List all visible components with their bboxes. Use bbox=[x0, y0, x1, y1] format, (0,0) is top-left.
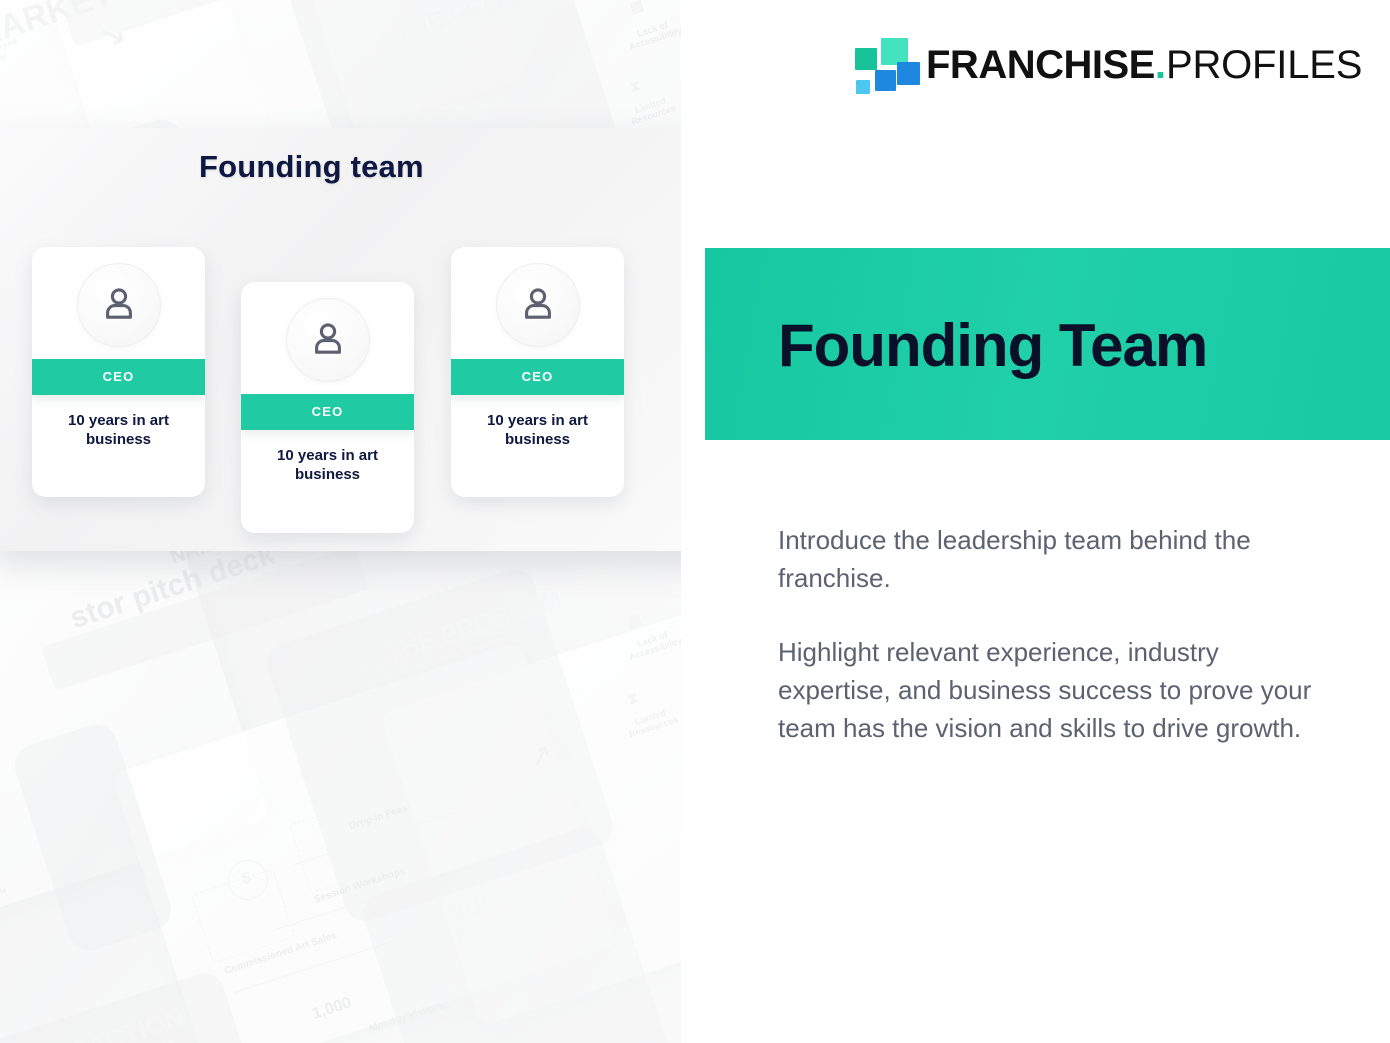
team-member-card[interactable]: CEO 10 years in art business bbox=[241, 282, 414, 533]
role-badge: CEO bbox=[32, 359, 205, 395]
role-badge: CEO bbox=[241, 394, 414, 430]
description-text: Introduce the leadership team behind the… bbox=[778, 522, 1338, 748]
description-paragraph-2: Highlight relevant experience, industry … bbox=[778, 634, 1338, 748]
description-paragraph-1: Introduce the leadership team behind the… bbox=[778, 522, 1338, 598]
logo-square-teal bbox=[855, 48, 877, 70]
logo-squares-icon bbox=[851, 36, 909, 94]
brand-logo: FRANCHISE.PROFILES bbox=[851, 36, 1362, 94]
person-icon bbox=[98, 284, 140, 326]
team-member-card[interactable]: CEO 10 years in art business bbox=[32, 247, 205, 497]
logo-square-blue bbox=[897, 62, 920, 85]
person-icon bbox=[517, 284, 559, 326]
logo-square-lightblue bbox=[856, 80, 870, 94]
member-experience-note: 10 years in art business bbox=[32, 395, 205, 449]
team-member-card[interactable]: CEO 10 years in art business bbox=[451, 247, 624, 497]
logo-word-franchise: FRANCHISE bbox=[926, 43, 1155, 87]
page-title: Founding Team bbox=[778, 311, 1207, 380]
member-experience-note: 10 years in art business bbox=[451, 395, 624, 449]
logo-dot: . bbox=[1155, 43, 1166, 87]
logo-word-profiles: PROFILES bbox=[1166, 43, 1362, 87]
person-icon bbox=[307, 319, 349, 361]
avatar bbox=[32, 247, 205, 359]
avatar bbox=[451, 247, 624, 359]
logo-square-mint bbox=[881, 38, 908, 65]
avatar bbox=[241, 282, 414, 394]
slide-canvas: MARKET ces in urban and e substantial ↘ … bbox=[0, 0, 1390, 1043]
logo-square-blue-small bbox=[875, 70, 896, 91]
slide-preview-title: Founding team bbox=[199, 149, 424, 185]
role-badge: CEO bbox=[451, 359, 624, 395]
member-experience-note: 10 years in art business bbox=[241, 430, 414, 484]
logo-wordmark: FRANCHISE.PROFILES bbox=[926, 45, 1362, 85]
